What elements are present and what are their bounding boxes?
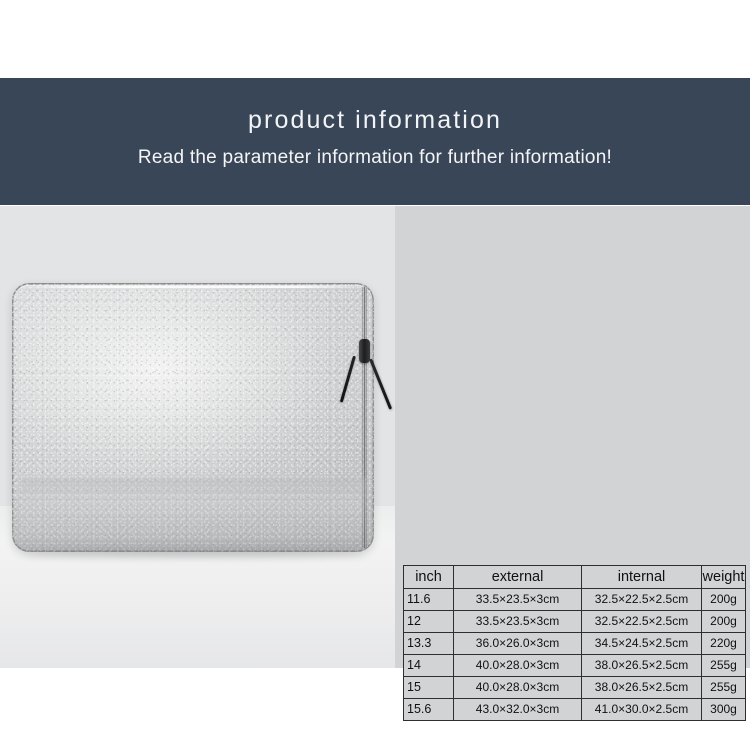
cell-internal: 41.0×30.0×2.5cm	[582, 699, 702, 721]
sleeve-top-seam	[22, 286, 364, 288]
header-banner: product information Read the parameter i…	[0, 78, 750, 205]
cell-inch: 15.6	[404, 699, 454, 721]
cell-internal: 38.0×26.5×2.5cm	[582, 655, 702, 677]
column-header-internal: internal	[582, 566, 702, 589]
table-row: 11.6 33.5×23.5×3cm 32.5×22.5×2.5cm 200g	[404, 589, 746, 611]
table-row: 14 40.0×28.0×3cm 38.0×26.5×2.5cm 255g	[404, 655, 746, 677]
cell-internal: 32.5×22.5×2.5cm	[582, 589, 702, 611]
cell-inch: 15	[404, 677, 454, 699]
content-panel: inch external internal weight 11.6 33.5×…	[0, 206, 750, 668]
column-header-inch: inch	[404, 566, 454, 589]
cell-weight: 220g	[702, 633, 746, 655]
cell-internal: 34.5×24.5×2.5cm	[582, 633, 702, 655]
cell-internal: 38.0×26.5×2.5cm	[582, 677, 702, 699]
product-reflection	[20, 478, 366, 542]
table-row: 12 33.5×23.5×3cm 32.5×22.5×2.5cm 200g	[404, 611, 746, 633]
table-row: 15.6 43.0×32.0×3cm 41.0×30.0×2.5cm 300g	[404, 699, 746, 721]
page-subtitle: Read the parameter information for furth…	[0, 146, 750, 170]
cell-weight: 200g	[702, 611, 746, 633]
table-row: 15 40.0×28.0×3cm 38.0×26.5×2.5cm 255g	[404, 677, 746, 699]
cell-external: 33.5×23.5×3cm	[454, 589, 582, 611]
cell-external: 43.0×32.0×3cm	[454, 699, 582, 721]
table-header-row: inch external internal weight	[404, 566, 746, 589]
cell-weight: 255g	[702, 677, 746, 699]
product-photo-panel	[0, 206, 395, 668]
cell-external: 40.0×28.0×3cm	[454, 677, 582, 699]
cell-external: 40.0×28.0×3cm	[454, 655, 582, 677]
column-header-weight: weight	[702, 566, 746, 589]
product-information-page: product information Read the parameter i…	[0, 0, 750, 750]
cell-weight: 200g	[702, 589, 746, 611]
cell-internal: 32.5×22.5×2.5cm	[582, 611, 702, 633]
cell-inch: 14	[404, 655, 454, 677]
page-title: product information	[0, 105, 750, 135]
cell-inch: 13.3	[404, 633, 454, 655]
cell-inch: 12	[404, 611, 454, 633]
cell-weight: 300g	[702, 699, 746, 721]
cell-external: 36.0×26.0×3cm	[454, 633, 582, 655]
cell-external: 33.5×23.5×3cm	[454, 611, 582, 633]
table-row: 13.3 36.0×26.0×3cm 34.5×24.5×2.5cm 220g	[404, 633, 746, 655]
cell-inch: 11.6	[404, 589, 454, 611]
column-header-external: external	[454, 566, 582, 589]
cell-weight: 255g	[702, 655, 746, 677]
product-contact-shadow	[26, 548, 360, 557]
specification-table: inch external internal weight 11.6 33.5×…	[403, 565, 746, 721]
